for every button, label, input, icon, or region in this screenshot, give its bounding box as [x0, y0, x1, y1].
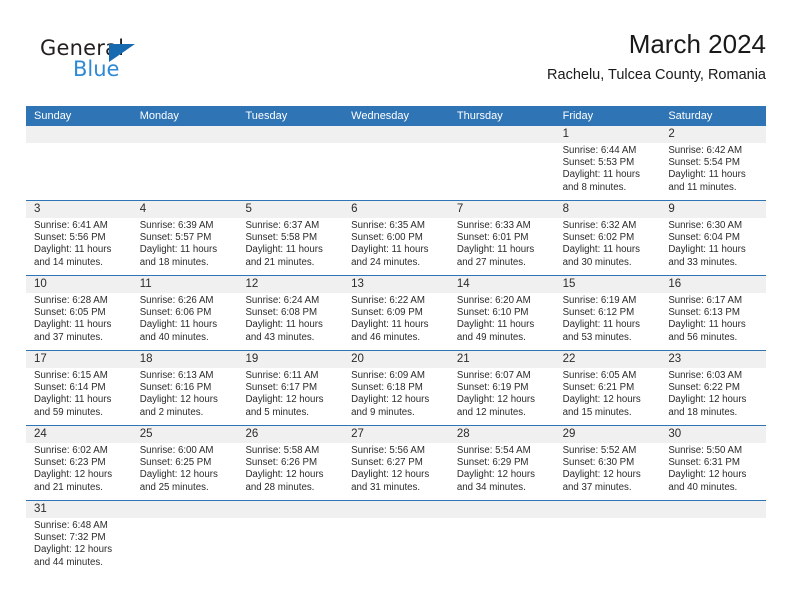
sunrise-text: Sunrise: 6:15 AM [34, 370, 132, 382]
day-details [457, 518, 555, 520]
calendar-cell-day-2[interactable]: 2Sunrise: 6:42 AMSunset: 5:54 PMDaylight… [660, 126, 766, 200]
calendar-cell-day-16[interactable]: 16Sunrise: 6:17 AMSunset: 6:13 PMDayligh… [660, 276, 766, 350]
daylight-text-line2: and 37 minutes. [563, 482, 661, 494]
daylight-text-line2: and 18 minutes. [668, 407, 766, 419]
day-details: Sunrise: 6:13 AMSunset: 6:16 PMDaylight:… [140, 368, 238, 419]
day-details: Sunrise: 5:56 AMSunset: 6:27 PMDaylight:… [351, 443, 449, 494]
day-number: 10 [34, 276, 132, 293]
calendar-cell-day-31[interactable]: 31Sunrise: 6:48 AMSunset: 7:32 PMDayligh… [26, 501, 132, 575]
sunrise-text: Sunrise: 6:39 AM [140, 220, 238, 232]
sunset-text: Sunset: 6:14 PM [34, 382, 132, 394]
calendar-week-row: 3Sunrise: 6:41 AMSunset: 5:56 PMDaylight… [26, 200, 766, 275]
day-number: 7 [457, 201, 555, 218]
daylight-text-line1: Daylight: 12 hours [351, 394, 449, 406]
calendar-cell-day-29[interactable]: 29Sunrise: 5:52 AMSunset: 6:30 PMDayligh… [555, 426, 661, 500]
calendar-cell-empty [237, 126, 343, 200]
day-details: Sunrise: 6:00 AMSunset: 6:25 PMDaylight:… [140, 443, 238, 494]
sunrise-text: Sunrise: 5:54 AM [457, 445, 555, 457]
sunrise-text: Sunrise: 6:17 AM [668, 295, 766, 307]
day-number: 13 [351, 276, 449, 293]
daylight-text-line1: Daylight: 12 hours [140, 394, 238, 406]
day-details: Sunrise: 5:54 AMSunset: 6:29 PMDaylight:… [457, 443, 555, 494]
day-number: 16 [668, 276, 766, 293]
daylight-text-line1: Daylight: 12 hours [457, 469, 555, 481]
sunset-text: Sunset: 6:23 PM [34, 457, 132, 469]
daylight-text-line1: Daylight: 11 hours [668, 244, 766, 256]
sunset-text: Sunset: 6:09 PM [351, 307, 449, 319]
sunset-text: Sunset: 6:08 PM [245, 307, 343, 319]
day-details: Sunrise: 6:37 AMSunset: 5:58 PMDaylight:… [245, 218, 343, 269]
daylight-text-line2: and 25 minutes. [140, 482, 238, 494]
calendar-cell-day-25[interactable]: 25Sunrise: 6:00 AMSunset: 6:25 PMDayligh… [132, 426, 238, 500]
calendar-cell-day-7[interactable]: 7Sunrise: 6:33 AMSunset: 6:01 PMDaylight… [449, 201, 555, 275]
day-number: 31 [34, 501, 132, 518]
calendar-week-cells: 3Sunrise: 6:41 AMSunset: 5:56 PMDaylight… [26, 201, 766, 275]
day-number: 19 [245, 351, 343, 368]
day-number: 29 [563, 426, 661, 443]
calendar-week-cells: 24Sunrise: 6:02 AMSunset: 6:23 PMDayligh… [26, 426, 766, 500]
day-number: 18 [140, 351, 238, 368]
daylight-text-line2: and 21 minutes. [34, 482, 132, 494]
sunrise-text: Sunrise: 5:56 AM [351, 445, 449, 457]
daylight-text-line1: Daylight: 12 hours [245, 469, 343, 481]
day-number: 26 [245, 426, 343, 443]
day-details: Sunrise: 6:24 AMSunset: 6:08 PMDaylight:… [245, 293, 343, 344]
sunset-text: Sunset: 6:22 PM [668, 382, 766, 394]
daylight-text-line1: Daylight: 11 hours [563, 244, 661, 256]
calendar-cell-day-5[interactable]: 5Sunrise: 6:37 AMSunset: 5:58 PMDaylight… [237, 201, 343, 275]
sunrise-text: Sunrise: 6:05 AM [563, 370, 661, 382]
sunset-text: Sunset: 6:01 PM [457, 232, 555, 244]
calendar-cell-day-26[interactable]: 26Sunrise: 5:58 AMSunset: 6:26 PMDayligh… [237, 426, 343, 500]
daylight-text-line1: Daylight: 11 hours [34, 394, 132, 406]
day-details: Sunrise: 6:44 AMSunset: 5:53 PMDaylight:… [563, 143, 661, 194]
day-details: Sunrise: 6:15 AMSunset: 6:14 PMDaylight:… [34, 368, 132, 419]
day-number: 9 [668, 201, 766, 218]
daylight-text-line2: and 34 minutes. [457, 482, 555, 494]
calendar-cell-day-4[interactable]: 4Sunrise: 6:39 AMSunset: 5:57 PMDaylight… [132, 201, 238, 275]
day-number: 11 [140, 276, 238, 293]
day-number: 25 [140, 426, 238, 443]
calendar-cell-day-24[interactable]: 24Sunrise: 6:02 AMSunset: 6:23 PMDayligh… [26, 426, 132, 500]
daylight-text-line1: Daylight: 11 hours [457, 319, 555, 331]
sunset-text: Sunset: 5:58 PM [245, 232, 343, 244]
daylight-text-line2: and 28 minutes. [245, 482, 343, 494]
day-details: Sunrise: 6:33 AMSunset: 6:01 PMDaylight:… [457, 218, 555, 269]
calendar-cell-empty [26, 126, 132, 200]
page-title: March 2024 [547, 28, 766, 60]
daylight-text-line1: Daylight: 11 hours [457, 244, 555, 256]
calendar-cell-day-28[interactable]: 28Sunrise: 5:54 AMSunset: 6:29 PMDayligh… [449, 426, 555, 500]
day-details: Sunrise: 6:41 AMSunset: 5:56 PMDaylight:… [34, 218, 132, 269]
sunrise-text: Sunrise: 6:24 AM [245, 295, 343, 307]
daylight-text-line1: Daylight: 11 hours [351, 319, 449, 331]
sunset-text: Sunset: 6:10 PM [457, 307, 555, 319]
sunset-text: Sunset: 6:12 PM [563, 307, 661, 319]
day-details: Sunrise: 6:11 AMSunset: 6:17 PMDaylight:… [245, 368, 343, 419]
sunrise-text: Sunrise: 6:32 AM [563, 220, 661, 232]
day-details: Sunrise: 5:50 AMSunset: 6:31 PMDaylight:… [668, 443, 766, 494]
day-details: Sunrise: 6:17 AMSunset: 6:13 PMDaylight:… [668, 293, 766, 344]
sunset-text: Sunset: 6:17 PM [245, 382, 343, 394]
day-details [34, 143, 132, 145]
sunset-text: Sunset: 6:13 PM [668, 307, 766, 319]
daylight-text-line2: and 14 minutes. [34, 257, 132, 269]
sunrise-text: Sunrise: 6:30 AM [668, 220, 766, 232]
daylight-text-line1: Daylight: 12 hours [563, 394, 661, 406]
daylight-text-line2: and 27 minutes. [457, 257, 555, 269]
daylight-text-line2: and 33 minutes. [668, 257, 766, 269]
daylight-text-line2: and 53 minutes. [563, 332, 661, 344]
calendar-cell-day-11[interactable]: 11Sunrise: 6:26 AMSunset: 6:06 PMDayligh… [132, 276, 238, 350]
day-number: 14 [457, 276, 555, 293]
calendar-week-row: 10Sunrise: 6:28 AMSunset: 6:05 PMDayligh… [26, 275, 766, 350]
calendar-cell-day-23[interactable]: 23Sunrise: 6:03 AMSunset: 6:22 PMDayligh… [660, 351, 766, 425]
sunset-text: Sunset: 6:05 PM [34, 307, 132, 319]
daylight-text-line1: Daylight: 12 hours [668, 469, 766, 481]
calendar-cell-empty [449, 126, 555, 200]
sunset-text: Sunset: 5:53 PM [563, 157, 661, 169]
daylight-text-line2: and 15 minutes. [563, 407, 661, 419]
calendar-page: General Blue March 2024 Rachelu, Tulcea … [0, 0, 792, 612]
sunrise-text: Sunrise: 6:03 AM [668, 370, 766, 382]
calendar-cell-day-3[interactable]: 3Sunrise: 6:41 AMSunset: 5:56 PMDaylight… [26, 201, 132, 275]
sunrise-text: Sunrise: 6:35 AM [351, 220, 449, 232]
sunrise-text: Sunrise: 6:33 AM [457, 220, 555, 232]
daylight-text-line2: and 44 minutes. [34, 557, 132, 569]
weekday-header-friday: Friday [555, 106, 661, 126]
calendar-week-cells: 10Sunrise: 6:28 AMSunset: 6:05 PMDayligh… [26, 276, 766, 350]
sunrise-text: Sunrise: 6:48 AM [34, 520, 132, 532]
day-number: 15 [563, 276, 661, 293]
daylight-text-line2: and 18 minutes. [140, 257, 238, 269]
sunrise-text: Sunrise: 6:13 AM [140, 370, 238, 382]
sunrise-text: Sunrise: 6:20 AM [457, 295, 555, 307]
sunrise-text: Sunrise: 6:42 AM [668, 145, 766, 157]
weekday-header-wednesday: Wednesday [343, 106, 449, 126]
calendar-cell-empty [237, 501, 343, 575]
calendar-cell-empty [449, 501, 555, 575]
daylight-text-line2: and 12 minutes. [457, 407, 555, 419]
weekday-header-saturday: Saturday [660, 106, 766, 126]
sunset-text: Sunset: 6:19 PM [457, 382, 555, 394]
calendar-cell-day-17[interactable]: 17Sunrise: 6:15 AMSunset: 6:14 PMDayligh… [26, 351, 132, 425]
day-details: Sunrise: 6:26 AMSunset: 6:06 PMDaylight:… [140, 293, 238, 344]
day-number: 17 [34, 351, 132, 368]
daylight-text-line1: Daylight: 12 hours [351, 469, 449, 481]
daylight-text-line2: and 37 minutes. [34, 332, 132, 344]
sunrise-text: Sunrise: 6:09 AM [351, 370, 449, 382]
calendar-week-row: 1Sunrise: 6:44 AMSunset: 5:53 PMDaylight… [26, 126, 766, 200]
page-subtitle: Rachelu, Tulcea County, Romania [547, 64, 766, 86]
weekday-header-monday: Monday [132, 106, 238, 126]
day-details: Sunrise: 6:32 AMSunset: 6:02 PMDaylight:… [563, 218, 661, 269]
daylight-text-line2: and 11 minutes. [668, 182, 766, 194]
sunrise-text: Sunrise: 6:41 AM [34, 220, 132, 232]
daylight-text-line2: and 59 minutes. [34, 407, 132, 419]
sunset-text: Sunset: 6:25 PM [140, 457, 238, 469]
day-number: 28 [457, 426, 555, 443]
day-number: 21 [457, 351, 555, 368]
day-number: 6 [351, 201, 449, 218]
daylight-text-line1: Daylight: 11 hours [34, 244, 132, 256]
daylight-text-line2: and 40 minutes. [140, 332, 238, 344]
day-details: Sunrise: 6:20 AMSunset: 6:10 PMDaylight:… [457, 293, 555, 344]
daylight-text-line1: Daylight: 11 hours [351, 244, 449, 256]
sunrise-text: Sunrise: 6:02 AM [34, 445, 132, 457]
calendar-cell-day-13[interactable]: 13Sunrise: 6:22 AMSunset: 6:09 PMDayligh… [343, 276, 449, 350]
sunrise-text: Sunrise: 6:00 AM [140, 445, 238, 457]
day-details: Sunrise: 6:07 AMSunset: 6:19 PMDaylight:… [457, 368, 555, 419]
daylight-text-line2: and 5 minutes. [245, 407, 343, 419]
day-number: 12 [245, 276, 343, 293]
day-details: Sunrise: 6:48 AMSunset: 7:32 PMDaylight:… [34, 518, 132, 569]
daylight-text-line1: Daylight: 12 hours [563, 469, 661, 481]
day-number: 3 [34, 201, 132, 218]
calendar-cell-day-1[interactable]: 1Sunrise: 6:44 AMSunset: 5:53 PMDaylight… [555, 126, 661, 200]
day-number: 27 [351, 426, 449, 443]
calendar-cell-day-30[interactable]: 30Sunrise: 5:50 AMSunset: 6:31 PMDayligh… [660, 426, 766, 500]
daylight-text-line2: and 49 minutes. [457, 332, 555, 344]
sunset-text: Sunset: 5:56 PM [34, 232, 132, 244]
calendar-cell-day-22[interactable]: 22Sunrise: 6:05 AMSunset: 6:21 PMDayligh… [555, 351, 661, 425]
daylight-text-line2: and 21 minutes. [245, 257, 343, 269]
daylight-text-line2: and 8 minutes. [563, 182, 661, 194]
calendar-cell-day-14[interactable]: 14Sunrise: 6:20 AMSunset: 6:10 PMDayligh… [449, 276, 555, 350]
sunset-text: Sunset: 7:32 PM [34, 532, 132, 544]
weekday-header-sunday: Sunday [26, 106, 132, 126]
sunset-text: Sunset: 6:00 PM [351, 232, 449, 244]
day-number: 20 [351, 351, 449, 368]
title-block: March 2024 Rachelu, Tulcea County, Roman… [547, 28, 766, 86]
calendar-week-cells: 31Sunrise: 6:48 AMSunset: 7:32 PMDayligh… [26, 501, 766, 575]
day-details: Sunrise: 6:19 AMSunset: 6:12 PMDaylight:… [563, 293, 661, 344]
calendar-cell-day-6[interactable]: 6Sunrise: 6:35 AMSunset: 6:00 PMDaylight… [343, 201, 449, 275]
day-number: 5 [245, 201, 343, 218]
sunrise-text: Sunrise: 6:07 AM [457, 370, 555, 382]
daylight-text-line1: Daylight: 12 hours [457, 394, 555, 406]
calendar-cell-day-20[interactable]: 20Sunrise: 6:09 AMSunset: 6:18 PMDayligh… [343, 351, 449, 425]
daylight-text-line2: and 31 minutes. [351, 482, 449, 494]
calendar-cell-day-18[interactable]: 18Sunrise: 6:13 AMSunset: 6:16 PMDayligh… [132, 351, 238, 425]
daylight-text-line2: and 40 minutes. [668, 482, 766, 494]
day-details: Sunrise: 6:09 AMSunset: 6:18 PMDaylight:… [351, 368, 449, 419]
calendar-grid: SundayMondayTuesdayWednesdayThursdayFrid… [26, 106, 766, 575]
day-details [563, 518, 661, 520]
sunset-text: Sunset: 6:02 PM [563, 232, 661, 244]
day-details [245, 143, 343, 145]
daylight-text-line1: Daylight: 11 hours [668, 319, 766, 331]
daylight-text-line1: Daylight: 12 hours [140, 469, 238, 481]
calendar-week-cells: 17Sunrise: 6:15 AMSunset: 6:14 PMDayligh… [26, 351, 766, 425]
sunrise-text: Sunrise: 6:28 AM [34, 295, 132, 307]
sunset-text: Sunset: 5:57 PM [140, 232, 238, 244]
daylight-text-line2: and 2 minutes. [140, 407, 238, 419]
daylight-text-line2: and 46 minutes. [351, 332, 449, 344]
sunset-text: Sunset: 6:29 PM [457, 457, 555, 469]
day-details: Sunrise: 6:35 AMSunset: 6:00 PMDaylight:… [351, 218, 449, 269]
calendar-cell-empty [343, 126, 449, 200]
day-details: Sunrise: 6:03 AMSunset: 6:22 PMDaylight:… [668, 368, 766, 419]
day-number: 23 [668, 351, 766, 368]
calendar-week-cells: 1Sunrise: 6:44 AMSunset: 5:53 PMDaylight… [26, 126, 766, 200]
calendar-cell-day-27[interactable]: 27Sunrise: 5:56 AMSunset: 6:27 PMDayligh… [343, 426, 449, 500]
calendar-cell-empty [132, 501, 238, 575]
day-number: 4 [140, 201, 238, 218]
sunrise-text: Sunrise: 5:58 AM [245, 445, 343, 457]
day-details: Sunrise: 6:05 AMSunset: 6:21 PMDaylight:… [563, 368, 661, 419]
day-number: 22 [563, 351, 661, 368]
day-details: Sunrise: 6:22 AMSunset: 6:09 PMDaylight:… [351, 293, 449, 344]
sunrise-text: Sunrise: 5:52 AM [563, 445, 661, 457]
day-details: Sunrise: 6:39 AMSunset: 5:57 PMDaylight:… [140, 218, 238, 269]
calendar-cell-empty [132, 126, 238, 200]
daylight-text-line1: Daylight: 11 hours [245, 319, 343, 331]
day-details [351, 518, 449, 520]
sunset-text: Sunset: 6:04 PM [668, 232, 766, 244]
calendar-cell-day-19[interactable]: 19Sunrise: 6:11 AMSunset: 6:17 PMDayligh… [237, 351, 343, 425]
daylight-text-line2: and 9 minutes. [351, 407, 449, 419]
sunrise-text: Sunrise: 5:50 AM [668, 445, 766, 457]
sunrise-text: Sunrise: 6:22 AM [351, 295, 449, 307]
day-number: 30 [668, 426, 766, 443]
calendar-cell-day-12[interactable]: 12Sunrise: 6:24 AMSunset: 6:08 PMDayligh… [237, 276, 343, 350]
day-details: Sunrise: 6:28 AMSunset: 6:05 PMDaylight:… [34, 293, 132, 344]
sunset-text: Sunset: 6:06 PM [140, 307, 238, 319]
calendar-cell-day-21[interactable]: 21Sunrise: 6:07 AMSunset: 6:19 PMDayligh… [449, 351, 555, 425]
day-details [245, 518, 343, 520]
sunset-text: Sunset: 5:54 PM [668, 157, 766, 169]
day-details [140, 143, 238, 145]
day-details: Sunrise: 6:30 AMSunset: 6:04 PMDaylight:… [668, 218, 766, 269]
day-details: Sunrise: 6:42 AMSunset: 5:54 PMDaylight:… [668, 143, 766, 194]
daylight-text-line1: Daylight: 11 hours [245, 244, 343, 256]
calendar-cell-day-9[interactable]: 9Sunrise: 6:30 AMSunset: 6:04 PMDaylight… [660, 201, 766, 275]
sunset-text: Sunset: 6:27 PM [351, 457, 449, 469]
day-number: 2 [668, 126, 766, 143]
daylight-text-line1: Daylight: 11 hours [668, 169, 766, 181]
sunset-text: Sunset: 6:21 PM [563, 382, 661, 394]
sunset-text: Sunset: 6:30 PM [563, 457, 661, 469]
day-number: 1 [563, 126, 661, 143]
day-details: Sunrise: 5:58 AMSunset: 6:26 PMDaylight:… [245, 443, 343, 494]
day-details [351, 143, 449, 145]
daylight-text-line1: Daylight: 11 hours [140, 319, 238, 331]
sunrise-text: Sunrise: 6:11 AM [245, 370, 343, 382]
daylight-text-line1: Daylight: 11 hours [563, 169, 661, 181]
calendar-weeks: 1Sunrise: 6:44 AMSunset: 5:53 PMDaylight… [26, 126, 766, 575]
daylight-text-line2: and 24 minutes. [351, 257, 449, 269]
daylight-text-line1: Daylight: 11 hours [563, 319, 661, 331]
day-details: Sunrise: 5:52 AMSunset: 6:30 PMDaylight:… [563, 443, 661, 494]
logo-word-blue: Blue [73, 57, 119, 82]
calendar-cell-empty [660, 501, 766, 575]
calendar-cell-day-8[interactable]: 8Sunrise: 6:32 AMSunset: 6:02 PMDaylight… [555, 201, 661, 275]
daylight-text-line1: Daylight: 12 hours [34, 469, 132, 481]
sunset-text: Sunset: 6:26 PM [245, 457, 343, 469]
weekday-header-tuesday: Tuesday [237, 106, 343, 126]
page-header: General Blue March 2024 Rachelu, Tulcea … [26, 28, 766, 94]
sunrise-text: Sunrise: 6:44 AM [563, 145, 661, 157]
calendar-cell-day-10[interactable]: 10Sunrise: 6:28 AMSunset: 6:05 PMDayligh… [26, 276, 132, 350]
sunrise-text: Sunrise: 6:26 AM [140, 295, 238, 307]
calendar-week-row: 17Sunrise: 6:15 AMSunset: 6:14 PMDayligh… [26, 350, 766, 425]
daylight-text-line1: Daylight: 12 hours [245, 394, 343, 406]
day-details [668, 518, 766, 520]
daylight-text-line1: Daylight: 11 hours [34, 319, 132, 331]
calendar-cell-day-15[interactable]: 15Sunrise: 6:19 AMSunset: 6:12 PMDayligh… [555, 276, 661, 350]
day-details [457, 143, 555, 145]
daylight-text-line2: and 43 minutes. [245, 332, 343, 344]
day-details [140, 518, 238, 520]
daylight-text-line2: and 56 minutes. [668, 332, 766, 344]
day-details: Sunrise: 6:02 AMSunset: 6:23 PMDaylight:… [34, 443, 132, 494]
calendar-week-row: 24Sunrise: 6:02 AMSunset: 6:23 PMDayligh… [26, 425, 766, 500]
calendar-cell-empty [555, 501, 661, 575]
day-number: 24 [34, 426, 132, 443]
sunset-text: Sunset: 6:16 PM [140, 382, 238, 394]
daylight-text-line1: Daylight: 12 hours [668, 394, 766, 406]
sunrise-text: Sunrise: 6:37 AM [245, 220, 343, 232]
calendar-cell-empty [343, 501, 449, 575]
calendar-week-row: 31Sunrise: 6:48 AMSunset: 7:32 PMDayligh… [26, 500, 766, 575]
weekday-header-row: SundayMondayTuesdayWednesdayThursdayFrid… [26, 106, 766, 126]
sunset-text: Sunset: 6:18 PM [351, 382, 449, 394]
daylight-text-line1: Daylight: 11 hours [140, 244, 238, 256]
sunset-text: Sunset: 6:31 PM [668, 457, 766, 469]
daylight-text-line1: Daylight: 12 hours [34, 544, 132, 556]
weekday-header-thursday: Thursday [449, 106, 555, 126]
sunrise-text: Sunrise: 6:19 AM [563, 295, 661, 307]
daylight-text-line2: and 30 minutes. [563, 257, 661, 269]
general-blue-logo[interactable]: General Blue [40, 36, 240, 92]
day-number: 8 [563, 201, 661, 218]
